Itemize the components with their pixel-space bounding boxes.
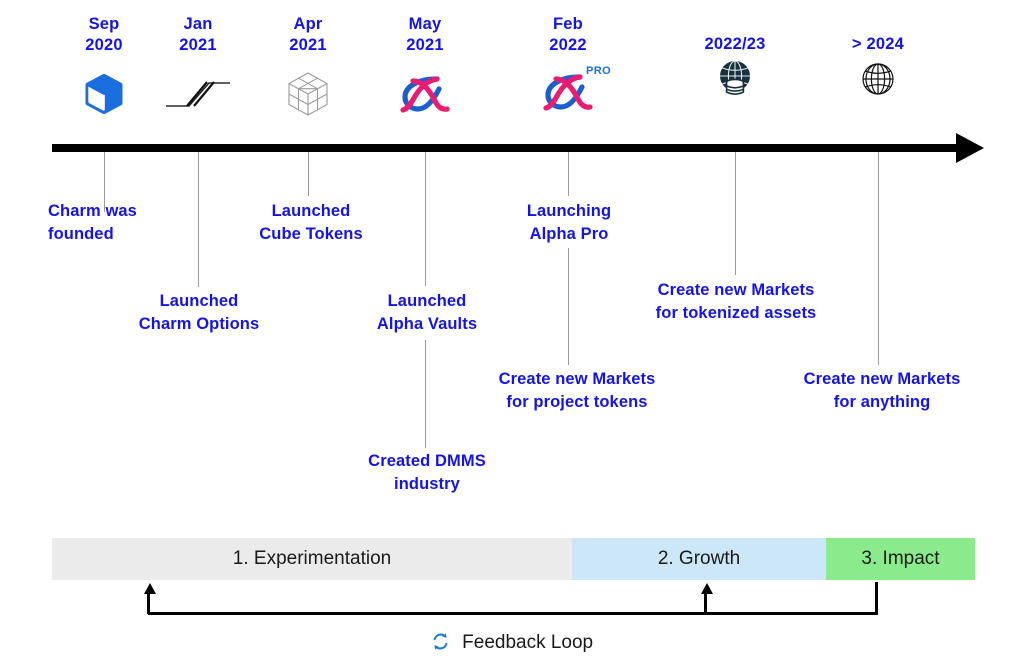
date-line-1: Sep: [89, 15, 120, 33]
tick-jan-2021: [198, 152, 199, 287]
timeline-diagram: Sep 2020 Jan 2021: [0, 0, 1024, 671]
callout-line-2: industry: [368, 473, 486, 496]
tick-may-2021-lower: [425, 340, 426, 448]
callout-markets-anything: Create new Markets for anything: [804, 368, 961, 415]
callout-line-2: Charm Options: [139, 313, 259, 336]
timeline-axis-line: [52, 144, 964, 152]
callout-line-2: for anything: [804, 391, 961, 414]
callout-line-1: Launched: [388, 292, 467, 310]
tick-feb-2022-lower: [568, 248, 569, 365]
feedback-loop-middle-arrowhead: [701, 583, 713, 594]
feedback-loop-left-arrowhead: [144, 583, 156, 594]
callout-markets-project-tokens: Create new Markets for project tokens: [499, 368, 656, 415]
milestone-2024: > 2024: [798, 14, 958, 107]
feedback-loop-left-stem: [147, 592, 150, 614]
callout-line-1: Created DMMS: [368, 452, 486, 470]
alpha-logo-icon: [345, 66, 505, 122]
tick-2024: [878, 152, 879, 365]
tick-may-2021-upper: [425, 152, 426, 286]
callout-line-1: Launched: [272, 202, 351, 220]
callout-launched-charm-options: Launched Charm Options: [139, 290, 259, 337]
callout-line-1: Create new Markets: [499, 370, 656, 388]
phase-experimentation[interactable]: 1. Experimentation: [52, 538, 572, 580]
feedback-loop-label: Feedback Loop: [462, 632, 593, 653]
globe-wireframe-icon: [798, 51, 958, 107]
tick-apr-2021: [308, 152, 309, 196]
date-line-1: May: [409, 15, 442, 33]
feedback-loop-right-stem: [875, 582, 878, 614]
callout-line-2: for project tokens: [499, 391, 656, 414]
milestone-date: > 2024: [798, 14, 958, 55]
milestone-date: Feb 2022: [488, 14, 648, 56]
tick-feb-2022-upper: [568, 152, 569, 196]
callout-charm-was-founded: Charm was founded: [48, 200, 137, 247]
phase-label: 3. Impact: [861, 548, 939, 570]
timeline-axis-arrowhead: [956, 133, 984, 163]
callout-launched-cube-tokens: Launched Cube Tokens: [259, 200, 362, 247]
phase-label: 1. Experimentation: [233, 548, 391, 570]
feedback-loop-label-row: Feedback Loop: [0, 632, 1024, 657]
callout-line-1: Launching: [527, 202, 611, 220]
date-line-2: 2022: [488, 35, 648, 56]
date-line-1: Apr: [293, 15, 322, 33]
milestone-feb-2022: Feb 2022 PRO: [488, 14, 648, 122]
callout-line-2: Cube Tokens: [259, 223, 362, 246]
globe-database-icon: [655, 51, 815, 107]
milestone-may-2021: May 2021: [345, 14, 505, 122]
callout-line-2: for tokenized assets: [656, 302, 817, 325]
alpha-pro-mark: PRO: [540, 69, 596, 120]
milestone-date: May 2021: [345, 14, 505, 56]
callout-line-1: Create new Markets: [658, 281, 815, 299]
callout-line-2: Alpha Pro: [527, 223, 611, 246]
callout-line-2: Alpha Vaults: [377, 313, 477, 336]
phase-impact[interactable]: 3. Impact: [826, 538, 975, 580]
pro-superscript-label: PRO: [586, 65, 611, 77]
phase-growth[interactable]: 2. Growth: [572, 538, 826, 580]
callout-line-1: Launched: [160, 292, 239, 310]
tick-2022-23: [735, 152, 736, 275]
callout-markets-tokenized-assets: Create new Markets for tokenized assets: [656, 279, 817, 326]
callout-line-1: Charm was: [48, 202, 137, 220]
feedback-loop-middle-stem: [704, 592, 707, 614]
milestone-date: 2022/23: [655, 14, 815, 55]
date-line-2: 2021: [345, 35, 505, 56]
date-line-1: Feb: [553, 15, 583, 33]
phase-label: 2. Growth: [658, 548, 740, 570]
alpha-pro-logo-icon: PRO: [488, 66, 648, 122]
phase-bar: 1. Experimentation 2. Growth 3. Impact: [52, 538, 975, 580]
date-line-1: > 2024: [852, 35, 904, 53]
milestone-2022-23: 2022/23: [655, 14, 815, 107]
callout-launched-alpha-vaults: Launched Alpha Vaults: [377, 290, 477, 337]
callout-line-2: founded: [48, 223, 137, 246]
date-line-1: Jan: [183, 15, 212, 33]
callout-created-dmms-industry: Created DMMS industry: [368, 450, 486, 497]
callout-line-1: Create new Markets: [804, 370, 961, 388]
refresh-loop-icon: [431, 632, 450, 657]
callout-launching-alpha-pro: Launching Alpha Pro: [527, 200, 611, 247]
feedback-loop-baseline: [148, 612, 878, 615]
date-line-1: 2022/23: [704, 35, 765, 53]
